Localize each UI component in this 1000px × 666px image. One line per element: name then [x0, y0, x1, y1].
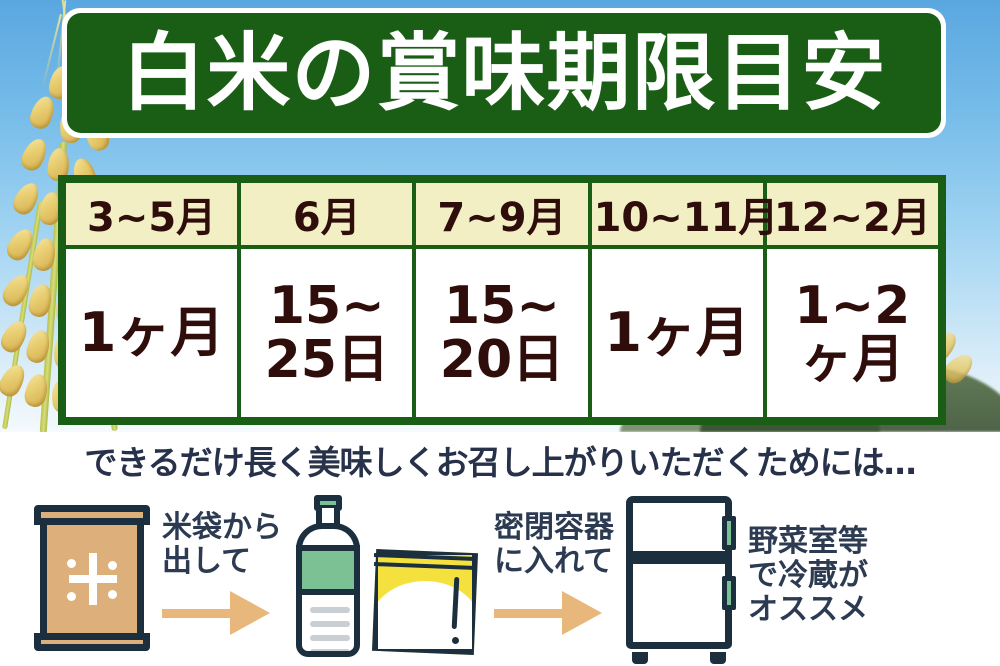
- arrow-right-icon-1: [162, 585, 274, 641]
- airtight-container-icon: [292, 495, 480, 657]
- storage-step-3: 野菜室等 で冷蔵が オススメ: [626, 486, 868, 666]
- table-header-cell: 12~2月: [767, 183, 938, 245]
- table-cell-value: 1ヶ月: [68, 305, 235, 361]
- infographic-poster: 白米の賞味期限目安 3~5月 6月 7~9月 10~11月 12~2月 1ヶ月 …: [0, 0, 1000, 666]
- storage-advice-caption: できるだけ長く美味しくお召し上がりいただくためには…: [0, 436, 1000, 484]
- table-cell: 15~ 25日: [241, 249, 412, 417]
- table-cell: 1ヶ月: [66, 249, 237, 417]
- table-cell-value: 15~ 25日: [243, 279, 410, 387]
- storage-step-1-label: 米袋から 出して: [162, 511, 282, 579]
- table-header-cell: 10~11月: [592, 183, 763, 245]
- title-plaque: 白米の賞味期限目安: [67, 13, 941, 133]
- table-cell-value: 1ヶ月: [594, 305, 761, 361]
- table-cell: 1ヶ月: [592, 249, 763, 417]
- table-cell-value: 15~ 20日: [418, 279, 585, 387]
- rice-bag-icon: [34, 501, 150, 651]
- arrow-right-icon-2: [494, 585, 606, 641]
- zip-bag-icon: [372, 533, 480, 657]
- storage-step-2-label: 密閉容器 に入れて: [494, 511, 614, 579]
- table-header-cell: 6月: [241, 183, 412, 245]
- table-header-cell: 3~5月: [66, 183, 237, 245]
- kome-kanji-mark: [63, 553, 121, 605]
- pet-bottle-icon: [292, 495, 364, 657]
- storage-steps-row: 米袋から 出して: [0, 486, 1000, 666]
- page-title: 白米の賞味期限目安: [121, 31, 886, 115]
- table-cell-value: 1~2 ヶ月: [769, 279, 936, 387]
- refrigerator-icon: [626, 496, 732, 656]
- table-row: 1ヶ月 15~ 25日 15~ 20日 1ヶ月 1~2 ヶ月: [66, 249, 938, 417]
- storage-step-3-label: 野菜室等 で冷蔵が オススメ: [748, 525, 868, 628]
- shelf-life-table: 3~5月 6月 7~9月 10~11月 12~2月 1ヶ月 15~ 25日 15…: [58, 175, 946, 425]
- storage-step-1: 米袋から 出して: [34, 486, 282, 666]
- title-plaque-frame: 白米の賞味期限目安: [62, 8, 946, 138]
- table-cell: 1~2 ヶ月: [767, 249, 938, 417]
- table-header-cell: 7~9月: [416, 183, 587, 245]
- table-header-row: 3~5月 6月 7~9月 10~11月 12~2月: [66, 183, 938, 245]
- storage-step-2: 密閉容器 に入れて: [292, 486, 614, 666]
- table-cell: 15~ 20日: [416, 249, 587, 417]
